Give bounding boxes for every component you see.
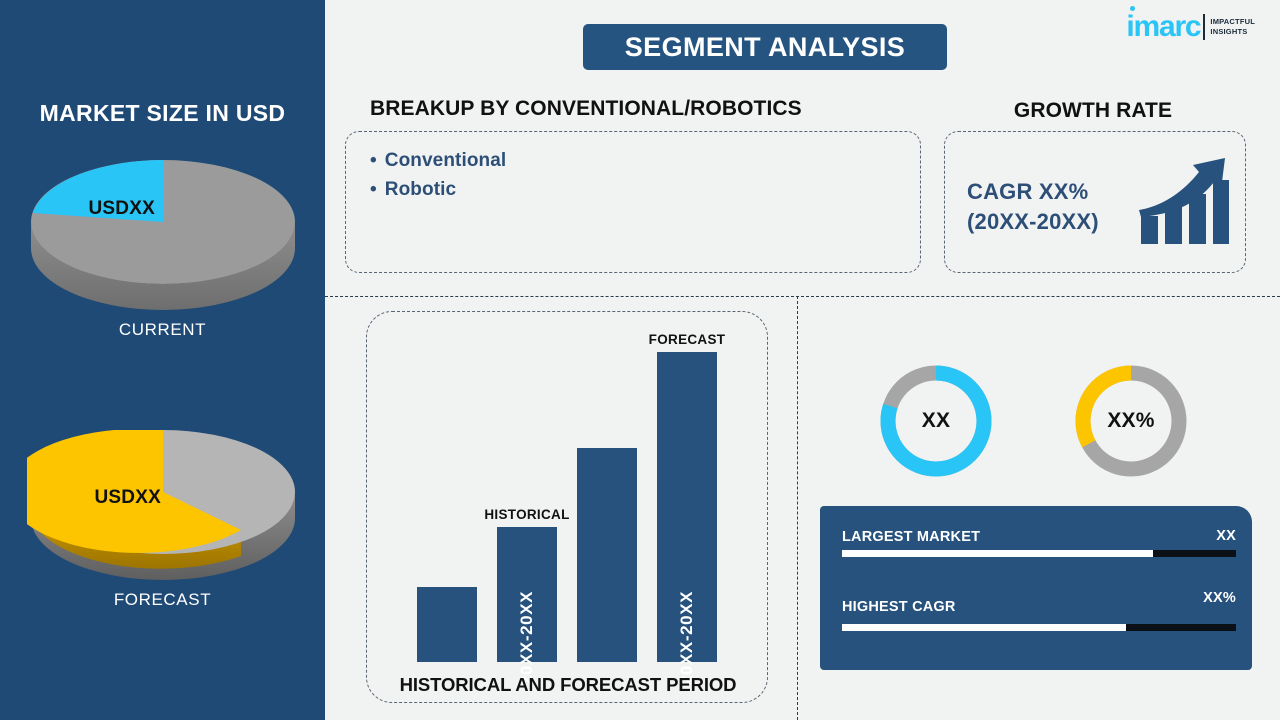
- forecast-pie-label: USDXX: [95, 487, 161, 509]
- forecast-pie-svg: [27, 430, 299, 580]
- page-title: SEGMENT ANALYSIS: [583, 24, 947, 70]
- bar-4-period-label: 20XX-20XX: [677, 591, 697, 685]
- vertical-divider: [797, 296, 798, 720]
- units-donut: XX: [877, 362, 995, 480]
- growth-arrow-bars-icon: [1137, 154, 1229, 251]
- imarc-logo: imarc IMPACTFUL INSIGHTS: [1126, 12, 1255, 42]
- bar-chart: HISTORICAL 20XX-20XX FORECAST 20XX-20XX: [407, 348, 731, 662]
- growth-rate-text: CAGR XX% (20XX-20XX): [967, 177, 1099, 236]
- percent-donut: XX%: [1072, 362, 1190, 480]
- current-pie-chart: USDXX CURRENT: [0, 160, 325, 340]
- sidebar-title: MARKET SIZE IN USD: [0, 100, 325, 127]
- growth-rate-card: CAGR XX% (20XX-20XX): [944, 131, 1246, 273]
- percent-donut-value: XX%: [1072, 362, 1190, 480]
- forecast-pie-caption: FORECAST: [0, 590, 325, 610]
- bar-3: [577, 448, 637, 662]
- stat-largest-market-value: XX: [1216, 528, 1236, 544]
- cagr-period: (20XX-20XX): [967, 207, 1099, 237]
- stat-largest-market: LARGEST MARKET XX: [842, 528, 1236, 546]
- stat-highest-cagr: HIGHEST CAGR XX%: [842, 598, 1236, 616]
- bar-2-period-label: 20XX-20XX: [517, 591, 537, 685]
- breakup-item-conventional: Conventional: [370, 146, 920, 175]
- forecast-pie-chart: USDXX FORECAST: [0, 430, 325, 610]
- stat-largest-market-fill: [842, 550, 1153, 557]
- market-stats-panel: LARGEST MARKET XX HIGHEST CAGR XX%: [820, 506, 1252, 670]
- stat-largest-market-label: LARGEST MARKET: [842, 529, 980, 545]
- logo-wordmark: imarc: [1126, 12, 1200, 42]
- breakup-list: Conventional Robotic: [346, 132, 920, 205]
- bar-1: [417, 587, 477, 662]
- units-donut-value: XX: [877, 362, 995, 480]
- forecast-label: FORECAST: [649, 332, 726, 347]
- breakup-item-robotic: Robotic: [370, 175, 920, 204]
- bar-chart-caption: HISTORICAL AND FORECAST PERIOD: [367, 674, 769, 696]
- current-pie-caption: CURRENT: [0, 320, 325, 340]
- market-size-sidebar: MARKET SIZE IN USD USDXX CURRENT: [0, 0, 325, 720]
- bar-2-historical: HISTORICAL 20XX-20XX: [497, 527, 557, 662]
- current-pie-label: USDXX: [89, 198, 155, 220]
- breakup-card: Conventional Robotic: [345, 131, 921, 273]
- logo-tagline-line1: IMPACTFUL: [1210, 17, 1255, 27]
- logo-tagline-line2: INSIGHTS: [1210, 27, 1255, 37]
- stat-highest-cagr-track: [842, 624, 1236, 631]
- cagr-value: CAGR XX%: [967, 177, 1099, 207]
- historical-label: HISTORICAL: [484, 507, 569, 522]
- horizontal-divider: [325, 296, 1280, 297]
- growth-rate-heading: GROWTH RATE: [942, 99, 1244, 123]
- stat-highest-cagr-label: HIGHEST CAGR: [842, 599, 956, 615]
- breakup-heading: BREAKUP BY CONVENTIONAL/ROBOTICS: [370, 97, 802, 121]
- bar-4-forecast: FORECAST 20XX-20XX: [657, 352, 717, 662]
- stat-highest-cagr-value: XX%: [1203, 590, 1236, 606]
- header: SEGMENT ANALYSIS imarc IMPACTFUL INSIGHT…: [325, 0, 1280, 88]
- logo-tagline: IMPACTFUL INSIGHTS: [1210, 17, 1255, 37]
- stat-highest-cagr-fill: [842, 624, 1126, 631]
- stat-largest-market-track: [842, 550, 1236, 557]
- historical-forecast-chart-card: HISTORICAL 20XX-20XX FORECAST 20XX-20XX …: [366, 311, 768, 703]
- logo-divider: [1203, 14, 1205, 40]
- current-pie-svg: [27, 160, 299, 310]
